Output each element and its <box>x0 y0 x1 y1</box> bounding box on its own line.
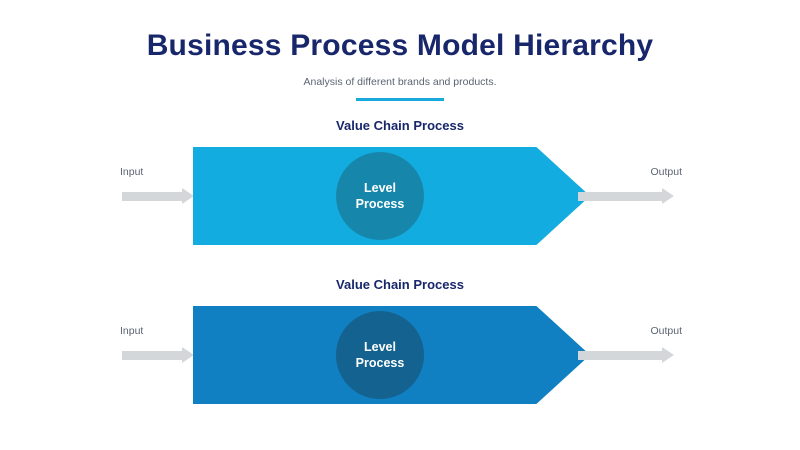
process-title-2: Value Chain Process <box>0 277 800 293</box>
level-circle-line1: Level <box>364 339 396 355</box>
level-circle-line2: Process <box>356 196 405 212</box>
level-circle-2[interactable]: Level Process <box>336 311 424 399</box>
process-block-1: Value Chain Process Input Output Level P… <box>0 118 800 257</box>
input-label-1: Input <box>120 165 200 179</box>
input-arrow-icon-2 <box>122 351 194 360</box>
arrow-head <box>662 347 674 363</box>
arrow-shaft <box>578 351 662 360</box>
level-circle-1[interactable]: Level Process <box>336 152 424 240</box>
level-circle-line1: Level <box>364 180 396 196</box>
output-arrow-icon-1 <box>578 192 674 201</box>
output-label-1: Output <box>602 165 682 179</box>
input-arrow-icon-1 <box>122 192 194 201</box>
process-band-1: Input Output Level Process <box>0 147 800 257</box>
process-title-1: Value Chain Process <box>0 118 800 134</box>
slide-canvas: Business Process Model Hierarchy Analysi… <box>0 0 800 450</box>
input-label-2: Input <box>120 324 200 338</box>
slide-header: Business Process Model Hierarchy Analysi… <box>0 28 800 101</box>
title-divider <box>356 98 444 101</box>
arrow-shaft <box>578 192 662 201</box>
arrow-shaft <box>122 192 182 201</box>
arrow-head <box>182 347 194 363</box>
arrow-head <box>182 188 194 204</box>
output-label-2: Output <box>602 324 682 338</box>
arrow-shaft <box>122 351 182 360</box>
level-circle-line2: Process <box>356 355 405 371</box>
output-arrow-icon-2 <box>578 351 674 360</box>
page-subtitle: Analysis of different brands and product… <box>0 75 800 89</box>
arrow-head <box>662 188 674 204</box>
page-title: Business Process Model Hierarchy <box>0 28 800 64</box>
process-band-2: Input Output Level Process <box>0 306 800 416</box>
process-block-2: Value Chain Process Input Output Level P… <box>0 277 800 416</box>
